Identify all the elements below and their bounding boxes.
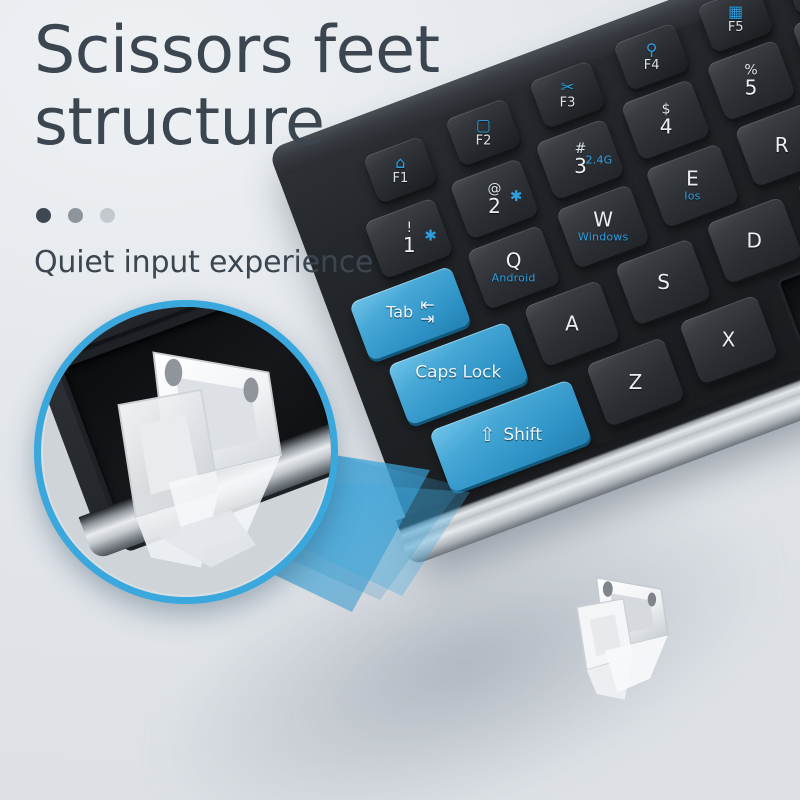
scissor-switch-magnifier: Shift [34,300,338,604]
bluetooth-icon: ✱ [510,187,523,205]
shift-arrow-icon: ⇧ [479,426,495,445]
headline: Scissors feet structure [34,20,674,154]
subheadline: Quiet input experience [34,245,373,280]
product-marketing-image: ⌂F1 ▢F2 ✂F3 ⚲F4 ▦F5 🔒 ! 1 ✱ [0,0,800,800]
dot-2[interactable] [68,208,83,223]
headline-line-1: Scissors feet [34,13,440,88]
magnifier-content: Shift [34,300,338,604]
bluetooth-icon: ✱ [425,226,438,244]
scissor-mechanism [556,568,696,708]
dot-3[interactable] [100,208,115,223]
magnified-scissor-mechanism [81,335,331,585]
pagination-dots [36,208,115,223]
tab-arrows-icon: ⇤⇥ [420,300,434,327]
dot-active[interactable] [36,208,51,223]
home-icon: ⌂ [395,155,405,171]
calculator-icon: ▦ [728,4,743,20]
headline-line-2: structure [34,92,674,154]
